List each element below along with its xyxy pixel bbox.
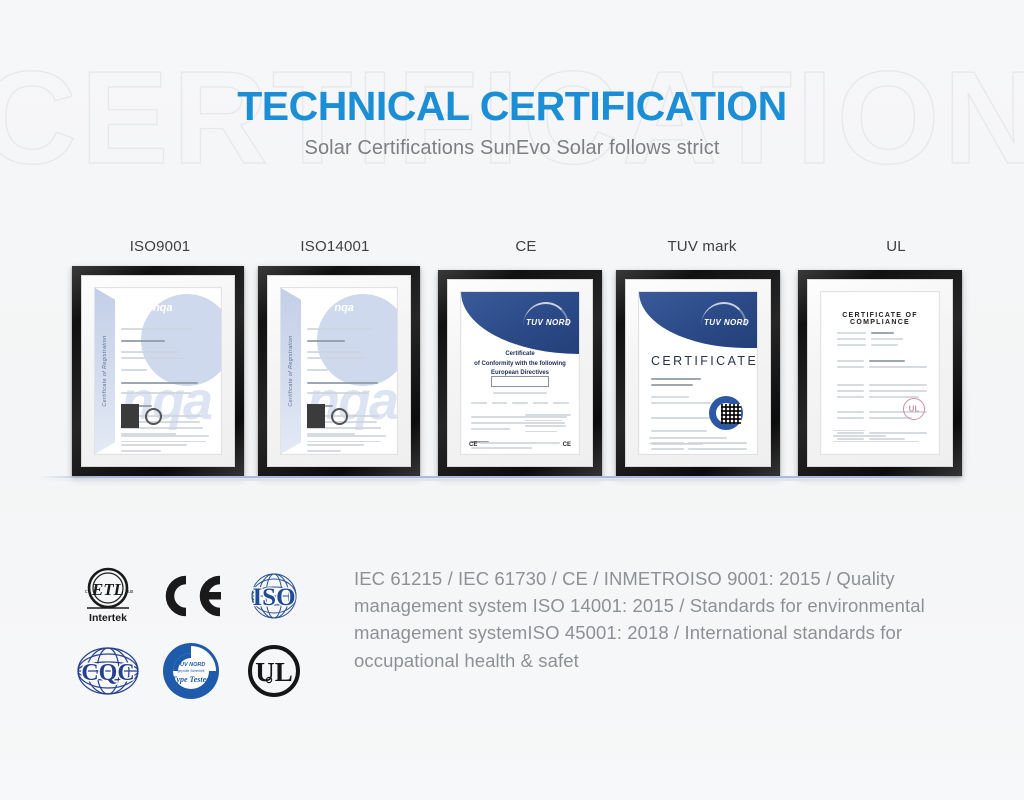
certificate-label-iso9001: ISO9001 xyxy=(76,238,244,255)
nqa-sidebar: Certificate of Registration xyxy=(281,288,301,454)
certificate-frame-iso9001[interactable]: Certificate of Registration nqa nqa xyxy=(72,266,244,476)
certificate-document-iso14001: Certificate of Registration nqa nqa xyxy=(280,287,398,455)
cqc-logo: CQC xyxy=(70,635,146,707)
ce-heading-line2: of Conformity with the following xyxy=(461,360,579,370)
frame-mat: CERTIFICATE OF COMPLIANCE xyxy=(807,279,953,467)
svg-text:geprüfte Sicherheit: geprüfte Sicherheit xyxy=(178,669,205,673)
certificate-label-tuv: TUV mark xyxy=(618,238,786,255)
tuv-nord-logo-text: TUV NORD xyxy=(526,318,571,327)
iso-globe-icon: ISO xyxy=(244,570,304,622)
certificate-frame-ce[interactable]: TUV NORD Certificate of Conformity with … xyxy=(438,270,602,476)
etl-intertek-icon: ETL c us Intertek xyxy=(77,566,139,626)
frame-mat: Certificate of Registration nqa nqa xyxy=(81,275,235,467)
svg-text:c: c xyxy=(85,589,88,595)
certificate-footer-lines xyxy=(833,430,927,447)
nqa-iaf-seal xyxy=(145,408,162,425)
svg-text:UL: UL xyxy=(256,657,294,687)
certificate-document-ul: CERTIFICATE OF COMPLIANCE xyxy=(820,291,940,455)
cqc-globe-icon: CQC xyxy=(75,643,141,699)
nqa-sidebar-text: Certificate of Registration xyxy=(288,335,294,406)
certificate-document-iso9001: Certificate of Registration nqa nqa xyxy=(94,287,222,455)
tuv-nord-type-tested-logo: TUV NORD geprüfte Sicherheit Type Tested xyxy=(153,635,229,707)
etl-intertek-logo: ETL c us Intertek xyxy=(70,560,146,632)
certificate-label-iso14001: ISO14001 xyxy=(254,238,416,255)
certification-standards-paragraph: IEC 61215 / IEC 61730 / CE / INMETROISO … xyxy=(354,565,929,674)
ul-certificate-heading: CERTIFICATE OF COMPLIANCE xyxy=(821,312,939,326)
page-subtitle: Solar Certifications SunEvo Solar follow… xyxy=(0,137,1024,160)
page-title: TECHNICAL CERTIFICATION xyxy=(0,84,1024,128)
certificate-labels-row: ISO9001 ISO14001 CE TUV mark UL xyxy=(0,238,1024,260)
svg-text:CQC: CQC xyxy=(81,660,134,686)
ul-seal-icon xyxy=(903,398,925,420)
ce-footer-mark-right: CE xyxy=(563,442,571,448)
tuv-nord-logo-text: TUV NORD xyxy=(704,318,749,327)
qr-code-icon xyxy=(721,404,741,424)
certificate-signature-block xyxy=(525,414,571,436)
certificate-footer-lines xyxy=(307,435,389,446)
ce-footer-mark-row: CE CE xyxy=(469,442,571,448)
certificate-document-tuv: TUV NORD CERTIFICATE xyxy=(638,291,758,455)
svg-text:TUV NORD: TUV NORD xyxy=(177,662,206,668)
nqa-accreditation-seal xyxy=(121,404,139,428)
ce-heading-line1: Certificate xyxy=(461,350,579,360)
certificate-frame-tuv[interactable]: TUV NORD CERTIFICATE xyxy=(616,270,780,476)
ce-heading: Certificate of Conformity with the follo… xyxy=(461,350,579,379)
certification-page: CERTIFICATION TECHNICAL CERTIFICATION So… xyxy=(0,0,1024,800)
nqa-brand-logo: nqa xyxy=(153,302,173,314)
ce-mark-icon xyxy=(158,574,224,618)
svg-text:ISO: ISO xyxy=(253,584,296,611)
svg-text:Intertek: Intertek xyxy=(89,612,127,624)
ce-logo xyxy=(153,560,229,632)
iso-logo: ISO xyxy=(236,560,312,632)
nqa-sidebar: Certificate of Registration xyxy=(95,288,115,454)
svg-text:ETL: ETL xyxy=(91,580,124,599)
ul-logo: UL xyxy=(236,635,312,707)
certificate-label-ul: UL xyxy=(812,238,980,255)
certificate-label-ce: CE xyxy=(440,238,612,255)
svg-text:us: us xyxy=(128,589,134,595)
svg-text:Type Tested: Type Tested xyxy=(172,675,211,684)
page-header: TECHNICAL CERTIFICATION Solar Certificat… xyxy=(0,84,1024,160)
nqa-sidebar-text: Certificate of Registration xyxy=(102,335,108,406)
certificate-document-ce: TUV NORD Certificate of Conformity with … xyxy=(460,291,580,455)
frame-mat: TUV NORD Certificate of Conformity with … xyxy=(447,279,593,467)
certificate-frame-iso14001[interactable]: Certificate of Registration nqa nqa xyxy=(258,266,420,476)
certificate-footer-lines xyxy=(649,437,747,448)
certification-logos-grid: ETL c us Intertek xyxy=(66,558,316,708)
nqa-accreditation-seal xyxy=(307,404,325,428)
ul-mark-icon: UL xyxy=(247,644,301,698)
tuv-certificate-heading: CERTIFICATE xyxy=(651,354,758,368)
certificate-frame-ul[interactable]: CERTIFICATE OF COMPLIANCE xyxy=(798,270,962,476)
frame-mat: TUV NORD CERTIFICATE xyxy=(625,279,771,467)
ce-registration-number-box xyxy=(491,376,549,387)
ce-footer-mark-left: CE xyxy=(469,442,477,448)
nqa-iaf-seal xyxy=(331,408,348,425)
tuv-nord-seal-icon: TUV NORD geprüfte Sicherheit Type Tested xyxy=(162,642,220,700)
certificate-footer-lines xyxy=(121,435,213,446)
nqa-brand-logo: nqa xyxy=(334,302,354,314)
tuv-header-band: TUV NORD xyxy=(639,292,757,348)
shelf-line-shadow xyxy=(38,478,962,481)
tuv-header-band: TUV NORD xyxy=(461,292,579,354)
frame-mat: Certificate of Registration nqa nqa xyxy=(267,275,411,467)
